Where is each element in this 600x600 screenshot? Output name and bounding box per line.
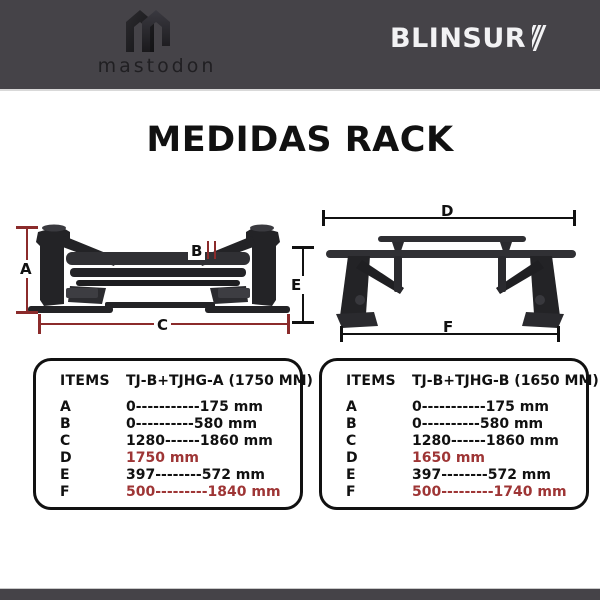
dimension-b: B (188, 240, 220, 262)
page-footer-bar (0, 588, 600, 600)
row-value: 0-----------175 mm (412, 399, 549, 415)
spec-table-b-col-items: ITEMS (346, 373, 396, 389)
spec-table-a-col-items: ITEMS (60, 373, 110, 389)
table-row: E 397--------572 mm (36, 467, 300, 484)
row-key: C (60, 433, 90, 449)
dimension-c-label: C (154, 316, 171, 334)
page-title: MEDIDAS RACK (0, 120, 600, 160)
blinsur-brand: BLINSUR (390, 22, 550, 56)
spec-table-a-rows: A 0-----------175 mm B 0----------580 mm… (36, 399, 300, 501)
spec-table-b-col-model: TJ-B+TJHG-B (1650 MM) (412, 373, 599, 389)
row-value: 1280------1860 mm (412, 433, 559, 449)
row-key: D (346, 450, 376, 466)
row-value: 397--------572 mm (412, 467, 551, 483)
row-key: E (346, 467, 376, 483)
dimension-e-label: E (288, 276, 304, 294)
dimension-b-label: B (188, 242, 205, 260)
dimension-a-label: A (17, 260, 35, 278)
row-key: F (346, 484, 376, 500)
row-key: A (60, 399, 90, 415)
table-row: C 1280------1860 mm (36, 433, 300, 450)
row-value: 0-----------175 mm (126, 399, 263, 415)
table-row: C 1280------1860 mm (322, 433, 586, 450)
row-value: 500---------1840 mm (126, 484, 281, 500)
mastodon-brand: mastodon (72, 4, 242, 88)
table-row: E 397--------572 mm (322, 467, 586, 484)
table-row: D 1650 mm (322, 450, 586, 467)
dimension-f: F (340, 322, 560, 344)
blinsur-slash-icon (532, 25, 548, 51)
row-value: 500---------1740 mm (412, 484, 567, 500)
mastodon-wordmark: mastodon (72, 56, 242, 76)
table-row: B 0----------580 mm (322, 416, 586, 433)
row-value: 1750 mm (126, 450, 199, 466)
table-row: F 500---------1840 mm (36, 484, 300, 501)
row-key: E (60, 467, 90, 483)
dimension-c: C (38, 314, 290, 334)
dimension-e: E (292, 246, 314, 324)
table-row: A 0-----------175 mm (36, 399, 300, 416)
row-value: 0----------580 mm (412, 416, 543, 432)
page-root: mastodon BLINSUR MEDIDAS RACK (0, 0, 600, 600)
blinsur-wordmark: BLINSUR (390, 22, 550, 56)
mastodon-m-logo-icon (120, 6, 176, 58)
row-value: 1280------1860 mm (126, 433, 273, 449)
row-value: 1650 mm (412, 450, 485, 466)
spec-table-b-rows: A 0-----------175 mm B 0----------580 mm… (322, 399, 586, 501)
spec-table-a: ITEMS TJ-B+TJHG-A (1750 MM) A 0---------… (33, 358, 303, 510)
row-key: D (60, 450, 90, 466)
table-row: F 500---------1740 mm (322, 484, 586, 501)
row-value: 0----------580 mm (126, 416, 257, 432)
page-header: mastodon BLINSUR (0, 0, 600, 91)
row-key: A (346, 399, 376, 415)
dimension-d: D (322, 204, 576, 226)
row-key: B (60, 416, 90, 432)
rack-front-view-diagram: D E F (300, 196, 595, 351)
row-key: B (346, 416, 376, 432)
diagram-row: A B C (0, 196, 600, 351)
spec-table-b-header: ITEMS TJ-B+TJHG-B (1650 MM) (322, 373, 586, 393)
dimension-a: A (16, 226, 38, 314)
spec-tables: ITEMS TJ-B+TJHG-A (1750 MM) A 0---------… (0, 358, 600, 518)
table-row: A 0-----------175 mm (322, 399, 586, 416)
spec-table-a-col-model: TJ-B+TJHG-A (1750 MM) (126, 373, 313, 389)
spec-table-b: ITEMS TJ-B+TJHG-B (1650 MM) A 0---------… (319, 358, 589, 510)
row-key: F (60, 484, 90, 500)
table-row: B 0----------580 mm (36, 416, 300, 433)
spec-table-a-header: ITEMS TJ-B+TJHG-A (1750 MM) (36, 373, 300, 393)
row-value: 397--------572 mm (126, 467, 265, 483)
row-key: C (346, 433, 376, 449)
rack-side-view-diagram: A B C (10, 196, 305, 351)
table-row: D 1750 mm (36, 450, 300, 467)
